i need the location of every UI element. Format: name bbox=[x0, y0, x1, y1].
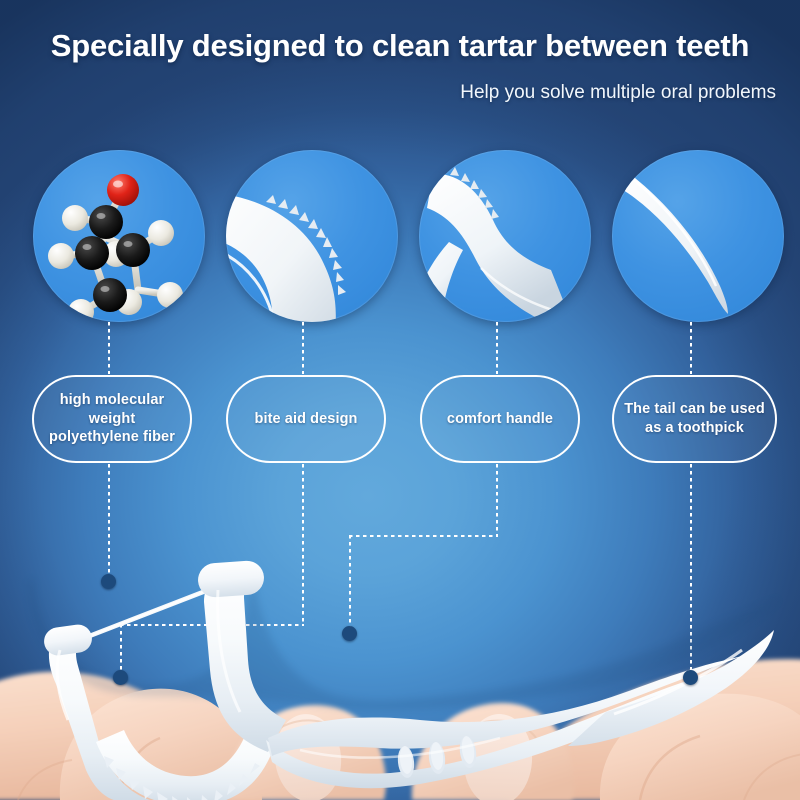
feature-circle-molecule bbox=[33, 150, 205, 322]
product-photo bbox=[0, 470, 800, 800]
marker-dot-serrated-edge bbox=[113, 670, 128, 685]
feature-label-text: The tail can be used as a toothpick bbox=[624, 400, 765, 438]
feature-label-bite-aid[interactable]: bite aid design bbox=[226, 375, 386, 463]
feature-label-comfort-handle[interactable]: comfort handle bbox=[420, 375, 580, 463]
connector-circle-to-label-4 bbox=[690, 322, 692, 374]
infographic-canvas: Specially designed to clean tartar betwe… bbox=[0, 0, 800, 800]
marker-dot-floss-bow bbox=[101, 574, 116, 589]
feature-label-molecule[interactable]: high molecular weight polyethylene fiber bbox=[32, 375, 192, 463]
molecule-model-icon bbox=[33, 150, 205, 322]
page-title: Specially designed to clean tartar betwe… bbox=[0, 28, 800, 64]
page-subtitle: Help you solve multiple oral problems bbox=[460, 82, 776, 104]
feature-label-text: bite aid design bbox=[254, 410, 357, 429]
feature-label-text: comfort handle bbox=[447, 410, 553, 429]
feature-label-toothpick-tail[interactable]: The tail can be used as a toothpick bbox=[612, 375, 777, 463]
marker-dot-toothpick-tail bbox=[683, 670, 698, 685]
connector-circle-to-label-3 bbox=[496, 322, 498, 374]
feature-label-text: high molecular weight polyethylene fiber bbox=[49, 391, 175, 448]
connector-circle-to-label-1 bbox=[108, 322, 110, 374]
connector-circle-to-label-2 bbox=[302, 322, 304, 374]
feature-circle-bite-aid bbox=[226, 150, 398, 322]
marker-dot-comfort-handle bbox=[342, 626, 357, 641]
serrated-arc-icon bbox=[226, 150, 398, 322]
feature-circle-toothpick-tail bbox=[612, 150, 784, 322]
y-handle-icon bbox=[419, 150, 591, 322]
curved-pick-icon bbox=[612, 150, 784, 322]
feature-circle-comfort-handle bbox=[419, 150, 591, 322]
